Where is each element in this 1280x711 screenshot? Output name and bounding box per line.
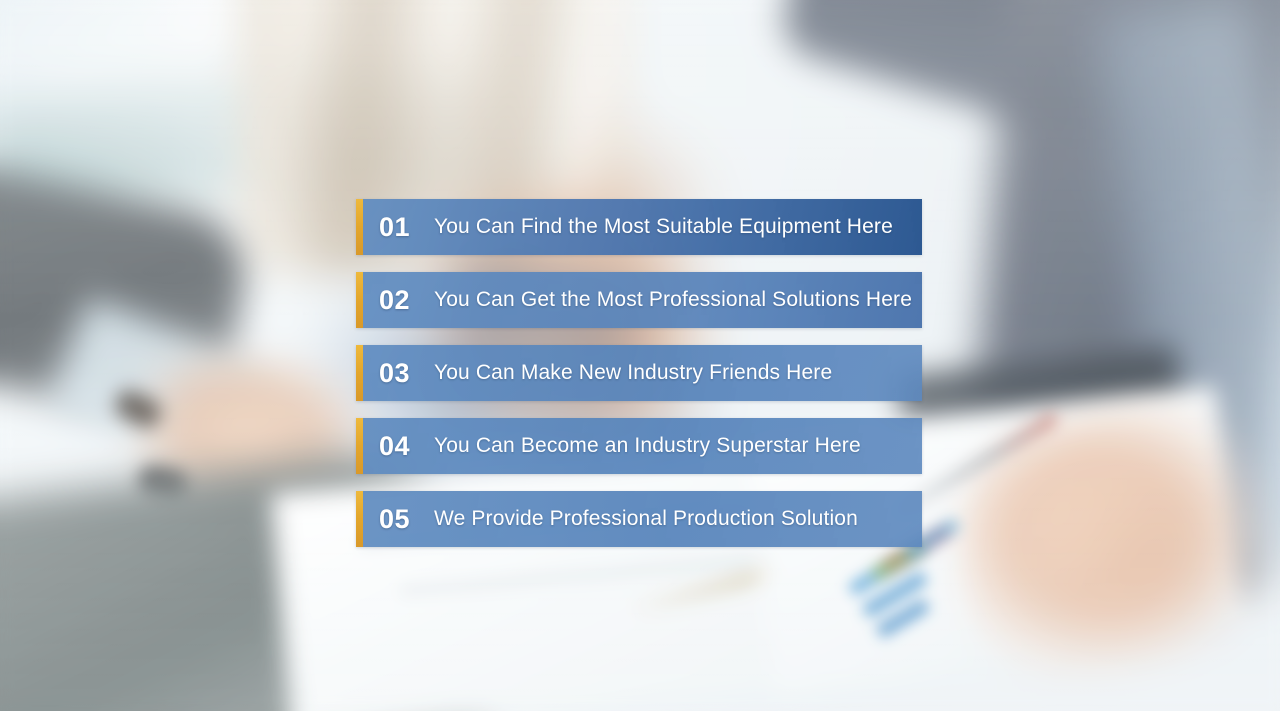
list-item-label: You Can Find the Most Suitable Equipment… (434, 215, 893, 239)
accent-stripe-icon (356, 199, 363, 255)
list-item-label: You Can Get the Most Professional Soluti… (434, 288, 912, 312)
list-item-label: You Can Make New Industry Friends Here (434, 361, 832, 385)
list-item[interactable]: 01 You Can Find the Most Suitable Equipm… (356, 199, 922, 255)
accent-stripe-icon (356, 345, 363, 401)
list-item-number: 02 (379, 287, 425, 314)
slide-canvas: 01 You Can Find the Most Suitable Equipm… (0, 0, 1280, 711)
list-item-number: 05 (379, 506, 425, 533)
list-item[interactable]: 02 You Can Get the Most Professional Sol… (356, 272, 922, 328)
list-item-number: 04 (379, 433, 425, 460)
accent-stripe-icon (356, 491, 363, 547)
list-item-label: You Can Become an Industry Superstar Her… (434, 434, 861, 458)
list-item-number: 03 (379, 360, 425, 387)
list-item[interactable]: 04 You Can Become an Industry Superstar … (356, 418, 922, 474)
list-item[interactable]: 03 You Can Make New Industry Friends Her… (356, 345, 922, 401)
accent-stripe-icon (356, 272, 363, 328)
list-item-number: 01 (379, 214, 425, 241)
accent-stripe-icon (356, 418, 363, 474)
numbered-bar-list: 01 You Can Find the Most Suitable Equipm… (356, 199, 922, 547)
hand-right-shadow (1030, 460, 1250, 650)
list-item-label: We Provide Professional Production Solut… (434, 507, 858, 531)
list-item[interactable]: 05 We Provide Professional Production So… (356, 491, 922, 547)
